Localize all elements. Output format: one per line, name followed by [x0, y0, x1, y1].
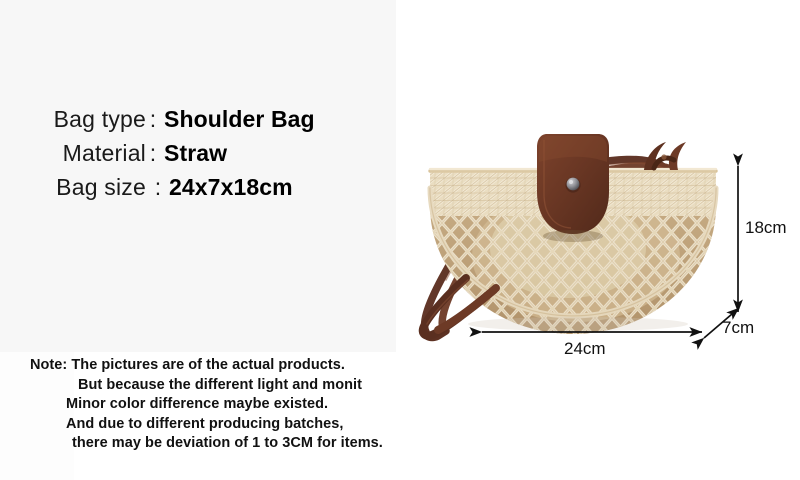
- spec-value-material: Straw: [160, 140, 227, 167]
- spec-value-bag-size: 24x7x18cm: [165, 174, 293, 201]
- spec-colon-bag-type: :: [146, 106, 160, 133]
- note-line-3: Minor color difference maybe existed.: [30, 395, 450, 415]
- spec-label-bag-type: Bag type: [28, 106, 146, 133]
- product-spec-image: Bag type : Shoulder Bag Material : Straw…: [0, 0, 800, 480]
- note-line-5: there may be deviation of 1 to 3CM for i…: [30, 434, 450, 454]
- spec-colon-bag-size: :: [146, 174, 165, 201]
- note-line-4: And due to different producing batches,: [30, 415, 450, 435]
- note-block: Note: The pictures are of the actual pro…: [30, 356, 450, 454]
- spec-row-bag-type: Bag type : Shoulder Bag: [28, 106, 368, 140]
- product-photo: [408, 128, 738, 343]
- spec-label-bag-size: Bag size: [28, 174, 146, 201]
- spec-row-material: Material : Straw: [28, 140, 368, 174]
- spec-colon-material: :: [146, 140, 160, 167]
- spec-list: Bag type : Shoulder Bag Material : Straw…: [28, 106, 368, 208]
- spec-row-bag-size: Bag size : 24x7x18cm: [28, 174, 368, 208]
- note-line-2: But because the different light and moni…: [30, 376, 450, 396]
- bag-vector: [408, 128, 738, 343]
- spec-value-bag-type: Shoulder Bag: [160, 106, 315, 133]
- spec-label-material: Material: [28, 140, 146, 167]
- straw-shoulder-bag-illustration: [408, 128, 738, 343]
- dimension-label-height: 18cm: [745, 218, 787, 238]
- note-line-1: Note: The pictures are of the actual pro…: [30, 356, 450, 376]
